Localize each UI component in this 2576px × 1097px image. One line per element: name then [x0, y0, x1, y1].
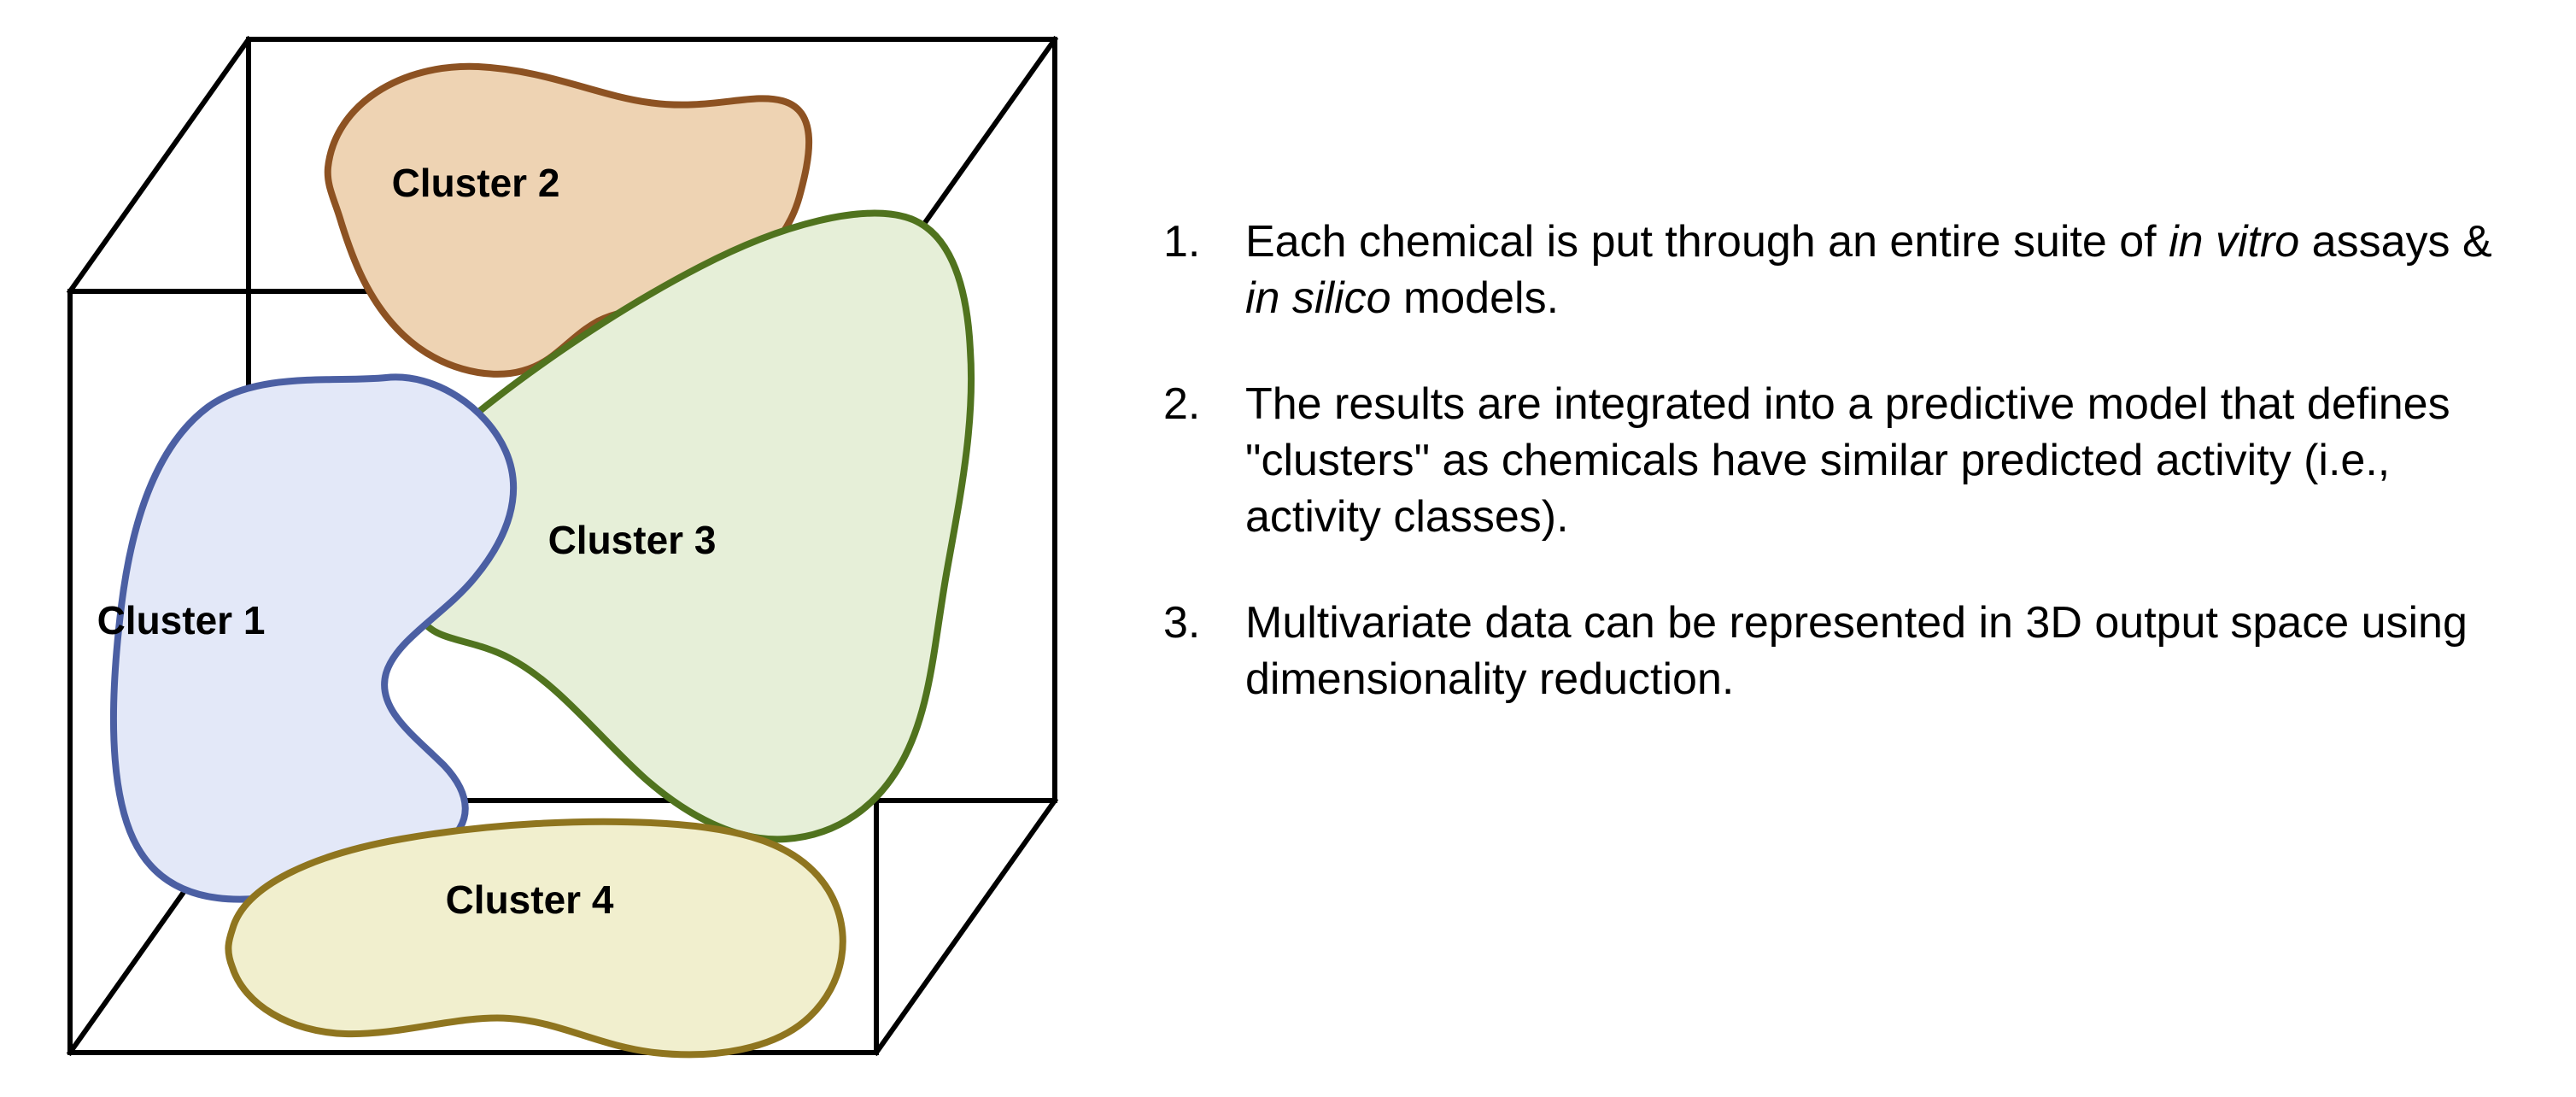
note-emphasis: in vitro	[2169, 217, 2299, 267]
note-emphasis: in silico	[1245, 273, 1391, 323]
note-number-3: 3.	[1163, 595, 1245, 651]
cluster-cube-diagram: Cluster 1 Cluster 2 Cluster 3 Cluster 4	[0, 0, 1145, 1097]
note-item-2: 2.The results are integrated into a pred…	[1163, 376, 2547, 545]
cube-edge-diag-top-left	[70, 39, 249, 291]
note-plain: Each chemical is put through an entire s…	[1245, 217, 2169, 267]
note-number-2: 2.	[1163, 376, 1245, 432]
cluster-3-label: Cluster 3	[548, 518, 717, 562]
note-plain: assays &	[2299, 217, 2491, 267]
cluster-1-label: Cluster 1	[97, 598, 266, 642]
slide-canvas: Cluster 1 Cluster 2 Cluster 3 Cluster 4 …	[0, 0, 2576, 1097]
cluster-4-label: Cluster 4	[446, 877, 614, 922]
note-text-2: The results are integrated into a predic…	[1245, 376, 2526, 545]
note-item-1: 1.Each chemical is put through an entire…	[1163, 214, 2547, 326]
note-plain: models.	[1391, 273, 1560, 323]
explanation-list: 1.Each chemical is put through an entire…	[1163, 214, 2547, 707]
cube-edge-diag-bottom-right	[876, 801, 1055, 1053]
note-text-3: Multivariate data can be represented in …	[1245, 595, 2526, 707]
note-plain: Multivariate data can be represented in …	[1245, 598, 2468, 704]
cube-svg: Cluster 1 Cluster 2 Cluster 3 Cluster 4	[0, 0, 1145, 1097]
note-plain: The results are integrated into a predic…	[1245, 379, 2450, 542]
cluster-4-blob[interactable]	[228, 822, 842, 1055]
note-item-3: 3.Multivariate data can be represented i…	[1163, 595, 2547, 707]
note-text-1: Each chemical is put through an entire s…	[1245, 214, 2526, 326]
note-number-1: 1.	[1163, 214, 1245, 270]
cluster-2-label: Cluster 2	[392, 161, 560, 205]
